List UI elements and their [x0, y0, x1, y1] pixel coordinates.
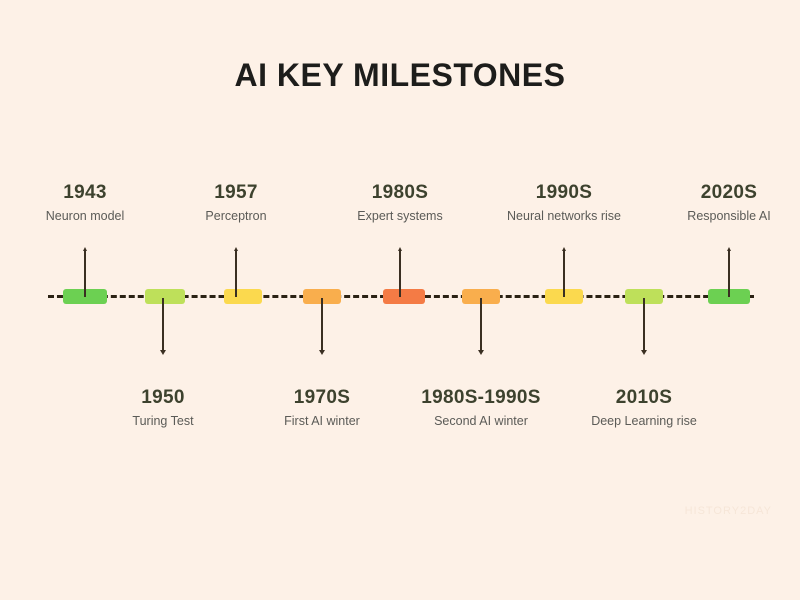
timeline-segment-3 [224, 289, 262, 304]
connector-up-2 [235, 250, 237, 297]
connector-up-5 [728, 250, 730, 297]
connector-down-3 [480, 298, 482, 352]
arrow-up-icon [398, 247, 402, 251]
connector-up-4 [563, 250, 565, 297]
arrow-down-icon [641, 350, 647, 355]
connector-down-1 [162, 298, 164, 352]
arrow-down-icon [319, 350, 325, 355]
connector-up-3 [399, 250, 401, 297]
arrow-down-icon [478, 350, 484, 355]
arrow-up-icon [234, 247, 238, 251]
timeline-segment-5 [383, 289, 425, 304]
milestone-description: Deep Learning rise [534, 415, 754, 429]
page-title: AI KEY MILESTONES [0, 57, 800, 94]
timeline-segment-2 [145, 289, 185, 304]
arrow-up-icon [562, 247, 566, 251]
connector-down-4 [643, 298, 645, 352]
arrow-up-icon [83, 247, 87, 251]
milestone-description: Responsible AI [619, 210, 800, 224]
infographic-canvas: AI KEY MILESTONES 1943Neuron model1957Pe… [0, 0, 800, 600]
arrow-up-icon [727, 247, 731, 251]
milestone-below-4: 2010SDeep Learning rise [534, 388, 754, 429]
milestone-year: 2010S [534, 388, 754, 409]
arrow-down-icon [160, 350, 166, 355]
connector-down-2 [321, 298, 323, 352]
milestone-year: 2020S [619, 183, 800, 204]
connector-up-1 [84, 250, 86, 297]
watermark: HISTORY2DAY [685, 505, 772, 517]
milestone-above-5: 2020SResponsible AI [619, 183, 800, 224]
